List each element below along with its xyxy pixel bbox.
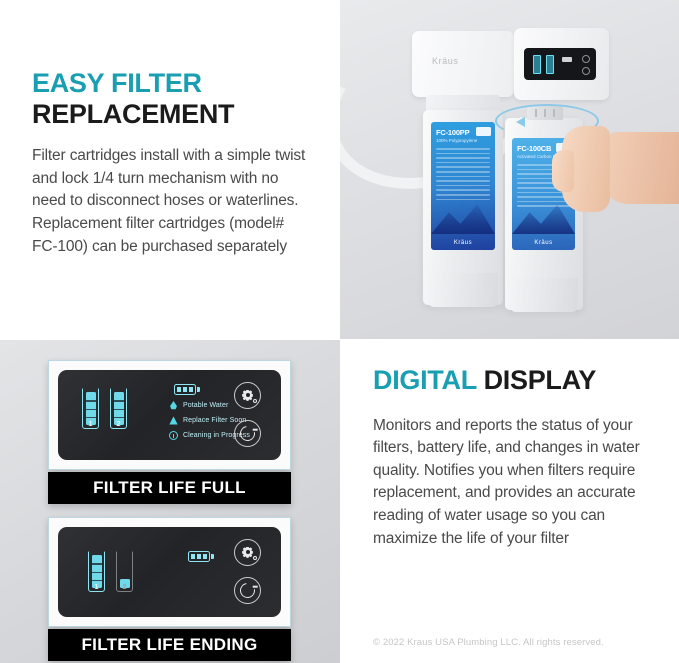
cartridge-left-badge [476, 127, 491, 136]
onboard-gear-icon [582, 55, 590, 63]
rotation-arrow-head-icon [516, 117, 525, 127]
status-replace-filter-label: Replace Filter Soon [183, 417, 246, 424]
filter-cartridge-left: FC-100PP 100% Polypropylene Kräus [423, 110, 503, 305]
onboard-battery-icon [562, 57, 572, 62]
battery-icon [174, 384, 196, 395]
cartridge-left-description: 100% Polypropylene [436, 138, 477, 143]
onboard-display-screen [524, 48, 596, 80]
easy-filter-section: EASY FILTER REPLACEMENT Filter cartridge… [0, 0, 340, 340]
caption-filter-life-ending: FILTER LIFE ENDING [48, 629, 291, 661]
filter-gauge-1-number: 1 [82, 419, 99, 428]
digital-display-body: Monitors and reports the status of your … [373, 415, 653, 551]
status-potable-water: Potable Water [169, 401, 228, 410]
water-drop-icon [169, 401, 178, 410]
reset-button[interactable] [234, 420, 261, 447]
cartridge-left-fineprint [436, 148, 490, 203]
filter-gauge-2-ending: 2 [116, 545, 133, 592]
onboard-gauge-2 [546, 55, 554, 74]
reset-icon [237, 580, 258, 601]
digital-display-text-block: DIGITAL DISPLAY Monitors and reports the… [373, 365, 653, 550]
brand-logo: Kräus [432, 56, 459, 66]
status-replace-filter: Replace Filter Soon [169, 416, 246, 425]
gear-icon [242, 547, 254, 559]
status-potable-water-label: Potable Water [183, 402, 228, 409]
filter-gauge-2-ending-number: 2 [116, 582, 133, 591]
copyright-notice: © 2022 Kraus USA Plumbing LLC. All right… [373, 637, 604, 648]
battery-icon-ending [188, 551, 210, 562]
easy-filter-headline-accent: EASY FILTER [32, 68, 202, 98]
cartridge-left-brand: Kräus [431, 240, 495, 246]
digital-display-headline-dark: DISPLAY [484, 365, 596, 395]
caption-filter-life-full: FILTER LIFE FULL [48, 472, 291, 504]
display-card-filter-life-ending: 1 2 [48, 517, 291, 627]
settings-button-ending[interactable] [234, 539, 261, 566]
cartridge-left-label: FC-100PP 100% Polypropylene Kräus [431, 122, 495, 250]
model-thumb [552, 150, 574, 192]
filtration-system-photo: Kräus FC-100PP 100% Polypropylene [340, 0, 679, 339]
model-forearm [602, 132, 679, 204]
reset-button-ending[interactable] [234, 577, 261, 604]
caption-filter-life-full-label: FILTER LIFE FULL [93, 478, 246, 498]
settings-button[interactable] [234, 382, 261, 409]
product-photo-section: Kräus FC-100PP 100% Polypropylene [340, 0, 679, 339]
digital-display-headline-accent: DIGITAL [373, 365, 476, 395]
product-feature-sheet: EASY FILTER REPLACEMENT Filter cartridge… [0, 0, 679, 663]
cartridge-left-mountain-graphic [431, 198, 495, 234]
filter-gauge-2: 2 [110, 382, 127, 429]
cartridge-left-model: FC-100PP [436, 128, 469, 137]
info-circle-icon [169, 431, 178, 440]
easy-filter-body: Filter cartridges install with a simple … [32, 145, 306, 258]
lcd-screen-ending: 1 2 [58, 527, 281, 617]
cartridge-right-brand: Kräus [512, 240, 575, 246]
easy-filter-text-block: EASY FILTER REPLACEMENT Filter cartridge… [32, 68, 306, 258]
cartridge-left-base [428, 273, 498, 307]
cartridge-right-model: FC-100CB [517, 144, 551, 153]
manifold-head-left: Kräus [412, 31, 514, 97]
digital-display-headline: DIGITAL DISPLAY [373, 365, 653, 396]
display-card-filter-life-full: 1 2 Potable Wat [48, 360, 291, 470]
filter-gauge-1-ending-number: 1 [88, 582, 105, 591]
manifold-head-right [514, 28, 609, 100]
lcd-screen-full: 1 2 Potable Wat [58, 370, 281, 460]
filter-gauge-1: 1 [82, 382, 99, 429]
warning-triangle-icon [169, 416, 178, 425]
onboard-gauge-1 [533, 55, 541, 74]
filter-gauge-1-ending: 1 [88, 545, 105, 592]
easy-filter-headline-dark: REPLACEMENT [32, 99, 234, 129]
gear-icon [242, 390, 254, 402]
cartridge-right-base [510, 278, 579, 312]
filter-gauge-2-number: 2 [110, 419, 127, 428]
onboard-reset-icon [582, 67, 590, 75]
caption-filter-life-ending-label: FILTER LIFE ENDING [81, 635, 257, 655]
easy-filter-headline: EASY FILTER REPLACEMENT [32, 68, 306, 129]
reset-icon [237, 423, 258, 444]
